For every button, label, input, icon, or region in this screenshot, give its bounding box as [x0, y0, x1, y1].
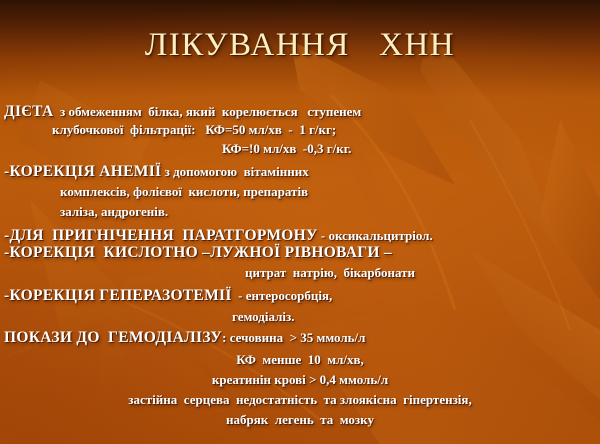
- line-azotemia: -КОРЕКЦІЯ ГЕПЕРАЗОТЕМІЇ - ентеросорбція,: [0, 288, 600, 304]
- line-parathormone-seg-0: -ДЛЯ ПРИГНІЧЕННЯ ПАРАТГОРМОНУ: [4, 227, 318, 244]
- line-iron: заліза, андрогенів.: [0, 204, 600, 220]
- line-kf-10-seg-0: КФ=!0 мл/хв -0,3 г/кг.: [222, 141, 351, 156]
- line-dieta: ДІЄТА з обмеженням білка, який корелюєть…: [0, 104, 600, 120]
- line-parathormone-seg-1: - оксикальцитріол.: [318, 228, 433, 243]
- line-acid-base-seg-0: -КОРЕКЦІЯ КИСЛОТНО –ЛУЖНОЇ РІВНОВАГИ –: [4, 244, 392, 261]
- line-anemia: -КОРЕКЦІЯ АНЕМІЇ з допомогою вітамінних: [0, 164, 600, 180]
- line-parathormone: -ДЛЯ ПРИГНІЧЕННЯ ПАРАТГОРМОНУ - оксикаль…: [0, 228, 600, 244]
- line-filtration: клубочкової фільтрації: КФ=50 мл/хв - 1 …: [0, 122, 600, 138]
- line-azotemia-seg-0: -КОРЕКЦІЯ ГЕПЕРАЗОТЕМІЇ: [4, 287, 232, 304]
- line-dieta-seg-0: ДІЄТА: [4, 103, 53, 120]
- line-hemodialysis-sub: гемодіаліз.: [0, 309, 600, 325]
- line-azotemia-seg-1: - ентеросорбція,: [232, 288, 333, 303]
- line-edema-seg-0: набряк легень та мозку: [226, 412, 374, 427]
- line-indications-seg-0: ПОКАЗИ ДО ГЕМОДІАЛІЗУ: [4, 329, 222, 346]
- line-complexes: комплексів, фолієвої кислоти, препаратів: [0, 184, 600, 200]
- line-kf-10: КФ=!0 мл/хв -0,3 г/кг.: [0, 141, 600, 157]
- slide-title: ЛІКУВАННЯ ХНН: [0, 27, 600, 64]
- line-creatinine-seg-0: креатинін крові > 0,4 ммоль/л: [212, 372, 388, 387]
- line-citrate-seg-0: цитрат натрію, бікарбонати: [245, 265, 415, 280]
- line-dieta-seg-1: з обмеженням білка, який корелюється сту…: [53, 104, 361, 119]
- presentation-slide: ЛІКУВАННЯ ХНН ДІЄТА з обмеженням білка, …: [0, 0, 600, 444]
- line-citrate: цитрат натрію, бікарбонати: [0, 265, 600, 281]
- line-indications: ПОКАЗИ ДО ГЕМОДІАЛІЗУ: сечовина > 35 ммо…: [0, 330, 600, 346]
- line-creatinine: креатинін крові > 0,4 ммоль/л: [0, 372, 600, 388]
- line-indications-seg-1: : сечовина > 35 ммоль/л: [222, 330, 365, 345]
- line-complexes-seg-0: комплексів, фолієвої кислоти, препаратів: [60, 184, 308, 199]
- line-kf-less-10-seg-0: КФ менше 10 мл/хв,: [236, 352, 364, 367]
- line-anemia-seg-0: -КОРЕКЦІЯ АНЕМІЇ: [4, 163, 161, 180]
- line-iron-seg-0: заліза, андрогенів.: [60, 204, 168, 219]
- line-kf-less-10: КФ менше 10 мл/хв,: [0, 352, 600, 368]
- line-filtration-seg-0: клубочкової фільтрації: КФ=50 мл/хв - 1 …: [52, 122, 336, 137]
- line-heart-failure-seg-0: застійна серцева недостатність та злоякі…: [128, 392, 471, 407]
- line-hemodialysis-sub-seg-0: гемодіаліз.: [232, 309, 295, 324]
- line-edema: набряк легень та мозку: [0, 412, 600, 428]
- line-acid-base: -КОРЕКЦІЯ КИСЛОТНО –ЛУЖНОЇ РІВНОВАГИ –: [0, 245, 600, 261]
- line-anemia-seg-1: з допомогою вітамінних: [161, 164, 308, 179]
- line-heart-failure: застійна серцева недостатність та злоякі…: [0, 392, 600, 408]
